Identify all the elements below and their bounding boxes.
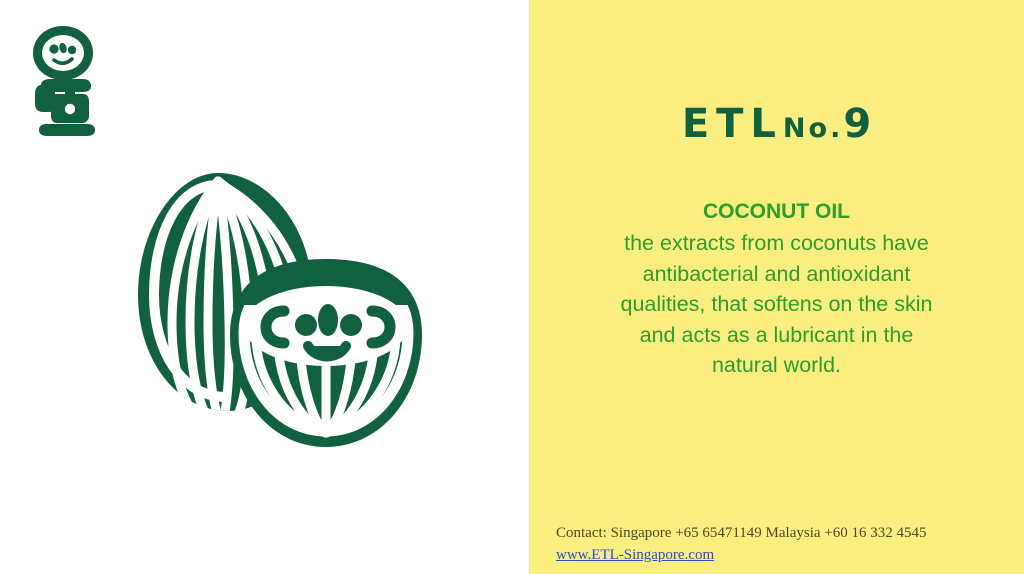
description-line: and acts as a lubricant in the [559, 320, 994, 351]
illustration-pane [0, 0, 529, 574]
footer: Contact: Singapore +65 65471149 Malaysia… [556, 522, 1016, 566]
product-description: the extracts from coconuts have antibact… [559, 228, 994, 381]
title-number-label: No. [783, 113, 843, 144]
coconut-illustration-icon [132, 163, 432, 453]
contact-line: Contact: Singapore +65 65471149 Malaysia… [556, 522, 1016, 544]
description-line: qualities, that softens on the skin [559, 289, 994, 320]
title-brand: ETL [682, 101, 783, 147]
content-pane: ETLNo.9 COCONUT OIL the extracts from co… [529, 0, 1024, 574]
title-number: 9 [843, 101, 871, 147]
description-line: natural world. [559, 350, 994, 381]
description-line: the extracts from coconuts have [559, 228, 994, 259]
product-name: COCONUT OIL [529, 198, 1024, 226]
description-line: antibacterial and antioxidant [559, 259, 994, 290]
etl-figure-logo-icon [27, 24, 99, 136]
website-link[interactable]: www.ETL-Singapore.com [556, 544, 714, 566]
slide: ETLNo.9 COCONUT OIL the extracts from co… [0, 0, 1024, 574]
page-title: ETLNo.9 [529, 104, 1024, 144]
